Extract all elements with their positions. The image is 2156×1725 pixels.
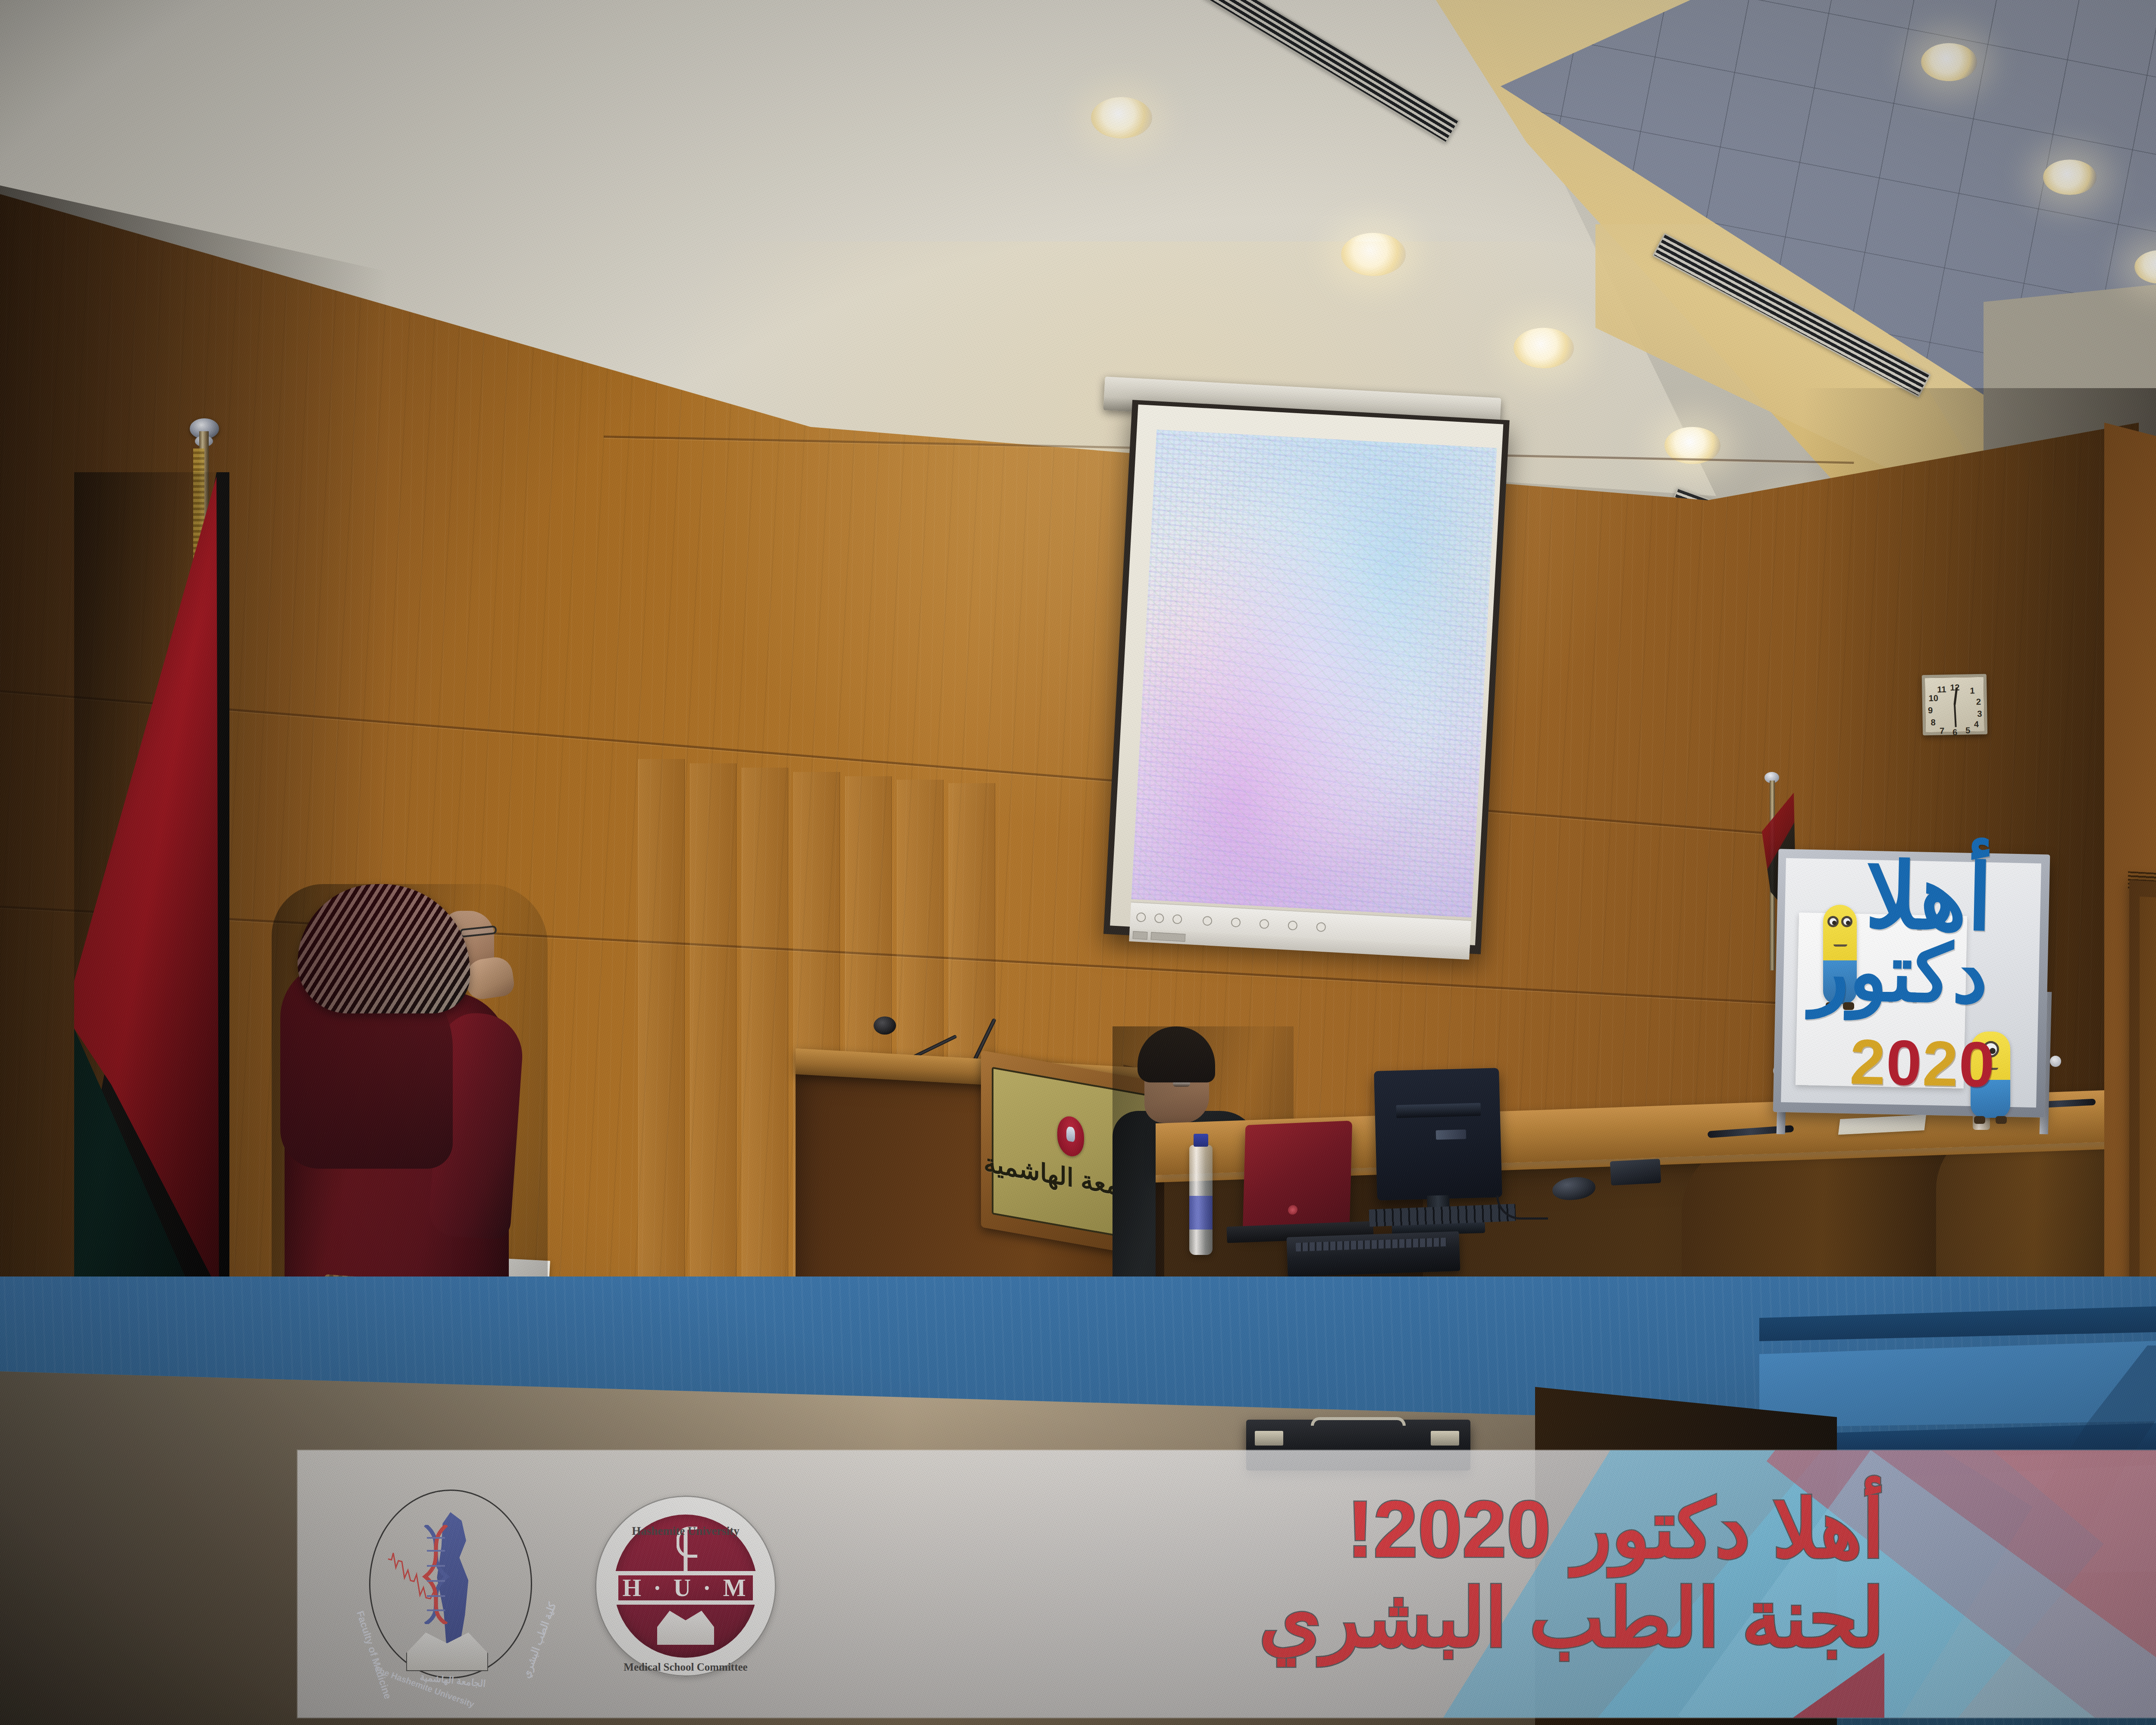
hum-logo-bottom-text: Medical School Committee bbox=[595, 1611, 776, 1676]
clock-numeral: 9 bbox=[1928, 706, 1933, 715]
projection-screen bbox=[1103, 400, 1510, 954]
projected-slide-image bbox=[1131, 430, 1497, 917]
clock-numeral: 6 bbox=[1952, 728, 1958, 737]
settings-button-icon[interactable] bbox=[1259, 919, 1269, 929]
ceiling-downlight bbox=[1921, 43, 1977, 81]
minion-pupil bbox=[1832, 921, 1836, 925]
lecture-hall-photo: 12 1 2 3 4 5 6 7 8 9 10 11 bbox=[0, 0, 2156, 1725]
equipment-case-handle[interactable] bbox=[1311, 1417, 1406, 1426]
monitor-brand-logo bbox=[1436, 1129, 1467, 1140]
clock-numeral: 5 bbox=[1965, 725, 1971, 735]
banner-headline-line-1: أهلا دكتور 2020! bbox=[849, 1485, 1884, 1574]
hum-logo-band-inner: H · U · M bbox=[618, 1575, 753, 1600]
previous-button-icon[interactable] bbox=[1154, 913, 1164, 923]
clock-numeral: 3 bbox=[1977, 709, 1982, 719]
minion-foot bbox=[1974, 1116, 1985, 1124]
hum-medical-school-committee-logo: H · U · M Hashemite University Medical S… bbox=[595, 1496, 776, 1677]
projected-image-noise bbox=[1131, 430, 1497, 917]
patterned-hijab bbox=[298, 884, 470, 1013]
banner-headline-line-2: لجنة الطب البشري bbox=[849, 1574, 1884, 1663]
minion-eye bbox=[1827, 916, 1839, 927]
man-hair bbox=[1138, 1026, 1215, 1082]
whiteboard-knob[interactable] bbox=[2050, 1056, 2061, 1067]
fullscreen-button-icon[interactable] bbox=[1288, 921, 1297, 931]
ceiling-downlight bbox=[1341, 233, 1406, 276]
play-button-icon[interactable] bbox=[1136, 912, 1146, 922]
wall-vertical-panel bbox=[690, 763, 736, 1324]
stop-button-icon[interactable] bbox=[1203, 916, 1213, 926]
hum-logo-letters: H · U · M bbox=[622, 1574, 749, 1602]
clock-numeral: 4 bbox=[1974, 719, 1979, 729]
equipment-case-latch[interactable] bbox=[1255, 1431, 1283, 1446]
poster-year-digit: 0 bbox=[1886, 1027, 1924, 1099]
taskbar-item bbox=[1151, 932, 1186, 941]
clock-numeral: 2 bbox=[1976, 697, 1981, 707]
clock-numeral: 1 bbox=[1970, 686, 1975, 696]
clock-minute-hand bbox=[1954, 705, 1957, 727]
taskbar-item bbox=[1133, 931, 1148, 940]
equipment-case-latch[interactable] bbox=[1431, 1431, 1459, 1446]
projection-screen-surface bbox=[1110, 405, 1503, 945]
extra-button-icon[interactable] bbox=[1316, 922, 1326, 932]
red-laptop[interactable] bbox=[1243, 1120, 1352, 1233]
hum-logo-top-text: Hashemite University bbox=[595, 1496, 776, 1565]
poster-year-digit: 2 bbox=[1922, 1027, 1960, 1099]
clock-numeral: 11 bbox=[1937, 684, 1946, 694]
clock-numeral: 10 bbox=[1929, 693, 1939, 703]
desk-device bbox=[1610, 1159, 1661, 1186]
event-banner-overlay: Faculty of Medicine The Hashemite Univer… bbox=[298, 1450, 2156, 1718]
wall-vertical-panel bbox=[742, 768, 788, 1328]
poster-year-digit: 0 bbox=[1958, 1028, 1996, 1100]
clock-numeral: 7 bbox=[1940, 726, 1945, 736]
poster-greeting-line-2: دكتور bbox=[1840, 934, 1989, 1028]
clock-numeral: 8 bbox=[1931, 718, 1936, 728]
banner-headline: أهلا دكتور 2020! لجنة الطب البشري bbox=[849, 1485, 1884, 1663]
water-bottle bbox=[1189, 1145, 1213, 1255]
wall-vertical-panel bbox=[638, 759, 685, 1320]
podium-microphone-head bbox=[874, 1016, 896, 1035]
dna-helix-icon bbox=[417, 1525, 455, 1624]
minion-foot bbox=[1996, 1116, 2007, 1124]
royal-crown-crest-icon bbox=[1057, 1114, 1084, 1159]
poster-year: 2020 bbox=[1849, 1025, 1980, 1101]
ceiling-downlight bbox=[2043, 160, 2096, 195]
next-button-icon[interactable] bbox=[1172, 914, 1182, 924]
wall-clock: 12 1 2 3 4 5 6 7 8 9 10 11 bbox=[1922, 674, 1987, 736]
poster-year-digit: 2 bbox=[1849, 1026, 1887, 1098]
ceiling-downlight bbox=[1514, 328, 1574, 368]
volume-button-icon[interactable] bbox=[1231, 917, 1241, 927]
ceiling-downlight bbox=[1091, 97, 1152, 138]
faculty-of-medicine-logo: Faculty of Medicine The Hashemite Univer… bbox=[358, 1478, 543, 1690]
monitor-vent bbox=[1396, 1103, 1481, 1118]
